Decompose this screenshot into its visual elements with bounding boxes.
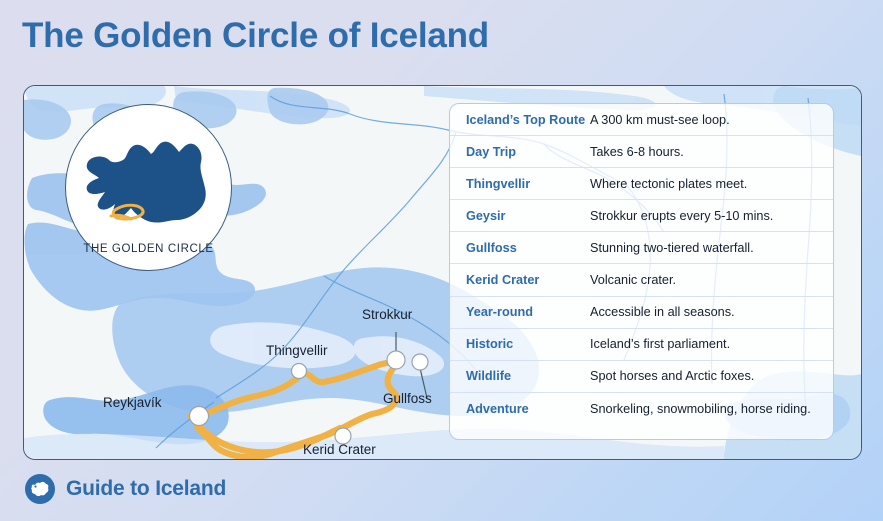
page-title: The Golden Circle of Iceland <box>22 16 489 56</box>
place-label-thingvellir: Thingvellir <box>266 343 328 358</box>
table-row: Day Trip Takes 6-8 hours. <box>450 136 833 168</box>
table-cell-desc: Snorkeling, snowmobiling, horse riding. <box>590 402 833 416</box>
table-row: Iceland’s Top Route A 300 km must-see lo… <box>450 104 833 136</box>
map-card: THE GOLDEN CIRCLE Reykjavík Thingvellir … <box>23 85 862 460</box>
table-cell-term: Adventure <box>450 402 590 416</box>
table-cell-desc: A 300 km must-see loop. <box>590 113 833 127</box>
footer-brand-label: Guide to Iceland <box>66 477 226 501</box>
table-cell-desc: Takes 6-8 hours. <box>590 145 833 159</box>
table-row: Thingvellir Where tectonic plates meet. <box>450 168 833 200</box>
table-row: Historic Iceland’s first parliament. <box>450 329 833 361</box>
info-table: Iceland’s Top Route A 300 km must-see lo… <box>449 103 834 440</box>
table-row: Adventure Snorkeling, snowmobiling, hors… <box>450 393 833 425</box>
table-cell-term: Historic <box>450 337 590 351</box>
table-cell-desc: Strokkur erupts every 5-10 mins. <box>590 209 833 223</box>
place-label-kerid-crater: Kerid Crater <box>303 442 376 457</box>
table-row: Gullfoss Stunning two-tiered waterfall. <box>450 232 833 264</box>
table-row: Kerid Crater Volcanic crater. <box>450 264 833 296</box>
place-label-gullfoss: Gullfoss <box>383 391 432 406</box>
table-cell-term: Iceland’s Top Route <box>450 113 590 127</box>
table-cell-desc: Spot horses and Arctic foxes. <box>590 369 833 383</box>
table-cell-desc: Volcanic crater. <box>590 273 833 287</box>
table-cell-desc: Iceland’s first parliament. <box>590 337 833 351</box>
table-row: Geysir Strokkur erupts every 5-10 mins. <box>450 200 833 232</box>
table-cell-term: Thingvellir <box>450 177 590 191</box>
place-label-reykjavik: Reykjavík <box>103 395 162 410</box>
table-cell-desc: Where tectonic plates meet. <box>590 177 833 191</box>
footer: Guide to Iceland <box>24 473 226 505</box>
table-cell-term: Gullfoss <box>450 241 590 255</box>
inset-map: THE GOLDEN CIRCLE <box>65 104 232 271</box>
place-label-strokkur: Strokkur <box>362 307 412 322</box>
table-cell-term: Geysir <box>450 209 590 223</box>
table-cell-desc: Stunning two-tiered waterfall. <box>590 241 833 255</box>
inset-map-label: THE GOLDEN CIRCLE <box>65 243 232 255</box>
table-cell-desc: Accessible in all seasons. <box>590 305 833 319</box>
table-cell-term: Kerid Crater <box>450 273 590 287</box>
table-row: Wildlife Spot horses and Arctic foxes. <box>450 361 833 393</box>
table-cell-term: Year-round <box>450 305 590 319</box>
table-row: Year-round Accessible in all seasons. <box>450 297 833 329</box>
guide-to-iceland-logo-icon[interactable] <box>24 473 56 505</box>
table-cell-term: Day Trip <box>450 145 590 159</box>
table-cell-term: Wildlife <box>450 369 590 383</box>
